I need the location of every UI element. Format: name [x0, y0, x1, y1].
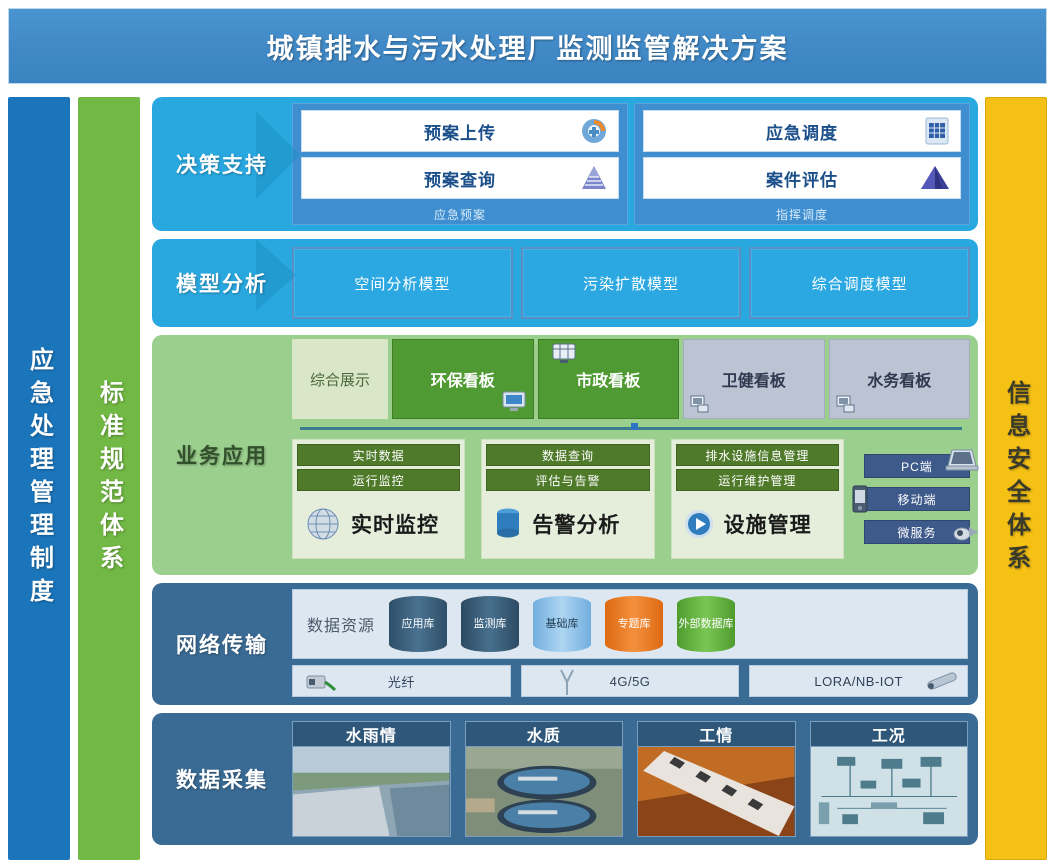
- app-main-label: 实时监控: [351, 509, 439, 539]
- data-card-label: 工情: [637, 721, 796, 747]
- layer-business-label: 业务应用: [152, 335, 292, 575]
- data-card-label: 水雨情: [292, 721, 451, 747]
- database-label: 监测库: [474, 618, 507, 631]
- layer-network-label: 网络传输: [152, 583, 292, 705]
- data-card-label: 工况: [810, 721, 969, 747]
- app-chip[interactable]: 数据查询: [486, 444, 649, 466]
- database-app[interactable]: 应用库: [389, 596, 447, 652]
- database-label: 专题库: [618, 618, 651, 631]
- model-box-label: 综合调度模型: [812, 273, 908, 294]
- pillar-security-label: 信息安全体系: [999, 380, 1034, 578]
- model-box-spatial[interactable]: 空间分析模型: [292, 247, 513, 319]
- decision-item-label: 预案上传: [424, 119, 496, 144]
- globe-icon: [303, 504, 343, 544]
- database-external[interactable]: 外部数据库: [677, 596, 735, 652]
- fiber-cable-icon: [303, 670, 337, 694]
- database-thematic[interactable]: 专题库: [605, 596, 663, 652]
- app-main-alarm-analysis[interactable]: 告警分析: [486, 494, 649, 554]
- app-chip[interactable]: 评估与告警: [486, 469, 649, 491]
- dashboard-card-label: 水务看板: [867, 367, 931, 391]
- client-chip-label: 移动端: [897, 491, 936, 508]
- model-box-label: 污染扩散模型: [583, 273, 679, 294]
- schematic-diagram: [810, 747, 969, 837]
- decision-group-emergency-plan: 预案上传 预案查询: [292, 103, 628, 225]
- layer-decision-label: 决策支持: [152, 97, 292, 231]
- application-row: 实时数据 运行监控: [292, 439, 970, 559]
- decision-group-caption: 应急预案: [301, 204, 619, 224]
- mobile-phone-icon: [851, 484, 869, 514]
- layer-data-collection: 数据采集 水雨情 水质: [152, 713, 978, 845]
- pipeline-trench-photo: [637, 747, 796, 837]
- play-circle-icon: [682, 507, 716, 541]
- dashboard-card-municipal[interactable]: 市政看板: [538, 339, 680, 419]
- database-icon: [492, 505, 524, 543]
- dashboard-card-label: 市政看板: [576, 367, 640, 391]
- dashboard-row: 综合展示 环保看板 市政看板: [292, 339, 970, 419]
- decision-group-command-dispatch: 应急调度 案件评估: [634, 103, 970, 225]
- app-chip[interactable]: 运行维护管理: [676, 469, 839, 491]
- app-chip[interactable]: 实时数据: [297, 444, 460, 466]
- database-label: 应用库: [402, 618, 435, 631]
- data-card-operating-condition[interactable]: 工况: [810, 721, 969, 837]
- layer-business-application: 业务应用 综合展示 环保看板 市政看板: [152, 335, 978, 575]
- client-chip-label: 微服务: [897, 524, 936, 541]
- layer-model-label: 模型分析: [152, 239, 292, 327]
- decision-item-case-evaluation[interactable]: 案件评估: [643, 157, 961, 199]
- decision-group-caption: 指挥调度: [643, 204, 961, 224]
- treatment-pool-photo: [465, 747, 624, 837]
- service-icon: [951, 521, 981, 545]
- database-monitoring[interactable]: 监测库: [461, 596, 519, 652]
- grid-table-icon: [923, 116, 951, 146]
- architecture-stack: 决策支持 预案上传 预案查询: [152, 97, 978, 853]
- model-box-pollution-diffusion[interactable]: 污染扩散模型: [521, 247, 742, 319]
- client-endpoint-list: PC端 移动端: [860, 439, 970, 559]
- app-chip[interactable]: 排水设施信息管理: [676, 444, 839, 466]
- database-label: 基础库: [546, 618, 579, 631]
- pillar-information-security: 信息安全体系: [985, 97, 1047, 860]
- transport-row: 光纤 4G/5G LORA/NB-IOT: [292, 665, 968, 697]
- canal-photo: [292, 747, 451, 837]
- database-basic[interactable]: 基础库: [533, 596, 591, 652]
- dashboard-card-health[interactable]: 卫健看板: [683, 339, 825, 419]
- transport-label: 4G/5G: [610, 674, 651, 689]
- decision-item-plan-query[interactable]: 预案查询: [301, 157, 619, 199]
- decision-item-label: 预案查询: [424, 166, 496, 191]
- dashboard-divider: [292, 423, 970, 433]
- app-column-realtime-monitoring: 实时数据 运行监控: [292, 439, 465, 559]
- data-card-engineering[interactable]: 工情: [637, 721, 796, 837]
- app-main-label: 设施管理: [724, 509, 812, 539]
- app-column-facility-management: 排水设施信息管理 运行维护管理 设施管理: [671, 439, 844, 559]
- data-card-label: 水质: [465, 721, 624, 747]
- divider-marker: [631, 423, 638, 430]
- pillar-emergency-label: 应急处理管理制度: [22, 347, 57, 611]
- client-chip-mobile[interactable]: 移动端: [864, 487, 970, 511]
- app-main-label: 告警分析: [532, 509, 620, 539]
- dashboard-caption: 综合展示: [292, 339, 388, 419]
- pyramid-icon: [579, 164, 609, 192]
- data-resource-caption: 数据资源: [307, 612, 375, 636]
- app-main-facility-management[interactable]: 设施管理: [676, 494, 839, 554]
- data-resource-panel: 数据资源 应用库 监测库 基础库 专题库 外部数据库: [292, 589, 968, 659]
- dashboard-card-environment[interactable]: 环保看板: [392, 339, 534, 419]
- transport-fiber[interactable]: 光纤: [292, 665, 511, 697]
- screen-small-icon: [836, 394, 856, 414]
- monitor-icon: [551, 342, 577, 366]
- model-box-label: 空间分析模型: [354, 273, 450, 294]
- data-card-rainfall[interactable]: 水雨情: [292, 721, 451, 837]
- pillar-standard-system: 标准规范体系: [78, 97, 140, 860]
- database-label: 外部数据库: [679, 618, 734, 631]
- decision-item-plan-upload[interactable]: 预案上传: [301, 110, 619, 152]
- layer-data-label: 数据采集: [152, 713, 292, 845]
- client-chip-pc[interactable]: PC端: [864, 454, 970, 478]
- monitor-icon: [501, 390, 527, 414]
- app-main-realtime-monitoring[interactable]: 实时监控: [297, 494, 460, 554]
- layer-model-analysis: 模型分析 空间分析模型 污染扩散模型 综合调度模型: [152, 239, 978, 327]
- page-title: 城镇排水与污水处理厂监测监管解决方案: [267, 27, 789, 66]
- screen-small-icon: [690, 394, 710, 414]
- transport-label: LORA/NB-IOT: [814, 674, 903, 689]
- client-chip-microservice[interactable]: 微服务: [864, 520, 970, 544]
- layer-network-transmission: 网络传输 数据资源 应用库 监测库 基础库 专题库 外部数据库: [152, 583, 978, 705]
- dashboard-card-water-affairs[interactable]: 水务看板: [829, 339, 971, 419]
- antenna-icon: [556, 667, 578, 697]
- decision-item-emergency-dispatch[interactable]: 应急调度: [643, 110, 961, 152]
- pillar-standard-label: 标准规范体系: [92, 380, 127, 578]
- refresh-circle-icon: [579, 116, 609, 146]
- model-box-integrated-dispatch[interactable]: 综合调度模型: [749, 247, 970, 319]
- sensor-icon: [923, 668, 963, 694]
- dashboard-card-label: 卫健看板: [722, 367, 786, 391]
- transport-lora-nbiot[interactable]: LORA/NB-IOT: [749, 665, 968, 697]
- app-chip[interactable]: 运行监控: [297, 469, 460, 491]
- layer-decision-support: 决策支持 预案上传 预案查询: [152, 97, 978, 231]
- pyramid-dark-icon: [919, 164, 951, 192]
- client-chip-label: PC端: [901, 458, 933, 475]
- decision-item-label: 案件评估: [766, 166, 838, 191]
- page-title-bar: 城镇排水与污水处理厂监测监管解决方案: [8, 8, 1047, 84]
- decision-item-label: 应急调度: [766, 119, 838, 144]
- transport-label: 光纤: [388, 672, 415, 691]
- laptop-icon: [945, 447, 979, 473]
- app-column-alarm-analysis: 数据查询 评估与告警 告警分析: [481, 439, 654, 559]
- transport-4g5g[interactable]: 4G/5G: [521, 665, 740, 697]
- data-card-water-quality[interactable]: 水质: [465, 721, 624, 837]
- pillar-emergency-management: 应急处理管理制度: [8, 97, 70, 860]
- dashboard-card-label: 环保看板: [431, 367, 495, 391]
